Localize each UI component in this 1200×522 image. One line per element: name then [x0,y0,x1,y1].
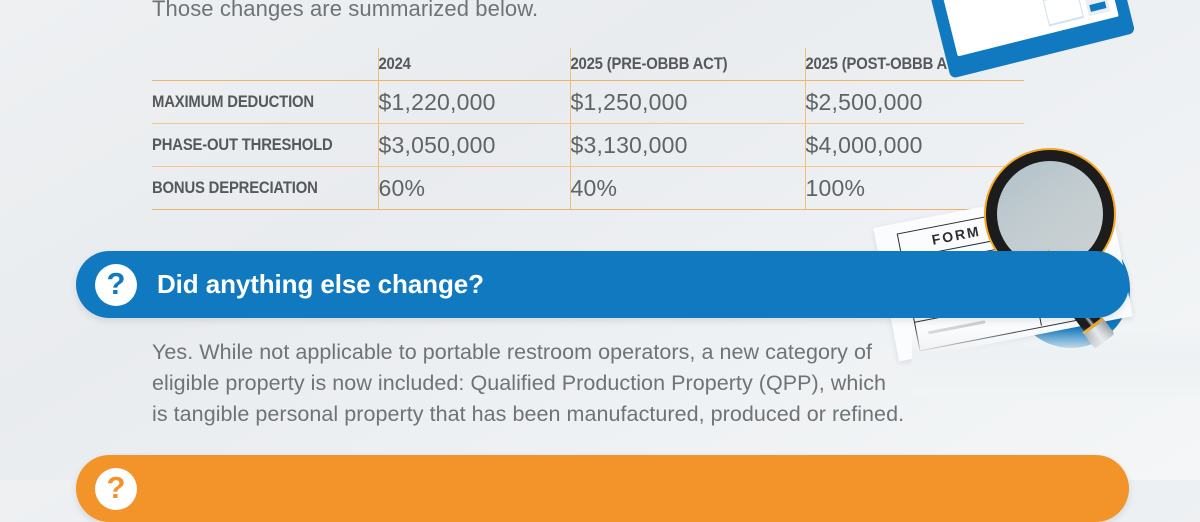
cell-phase-out-threshold-2025-pre: $3,130,000 [570,124,805,167]
answer-paragraph: Yes. While not applicable to portable re… [152,337,1112,430]
table-row: PHASE-OUT THRESHOLD $3,050,000 $3,130,00… [152,124,1024,167]
tablet-illustration [915,0,1136,79]
question-mark-glyph: ? [107,268,126,299]
answer-line-1: Yes. While not applicable to portable re… [152,337,1112,368]
cell-phase-out-threshold-2024: $3,050,000 [378,124,570,167]
cell-bonus-depreciation-2024: 60% [378,167,570,210]
section-179-comparison-table: 2024 2025 (PRE-OBBB ACT) 2025 (POST-OBBB… [152,48,1024,210]
table-header-2025-pre: 2025 (PRE-OBBB ACT) [570,48,782,81]
question-mark-icon: ? [95,468,137,510]
question-mark-icon: ? [95,264,137,306]
row-label-phase-out-threshold: PHASE-OUT THRESHOLD [152,124,355,167]
answer-line-3: is tangible personal property that has b… [152,399,1112,430]
table-header-row: 2024 2025 (PRE-OBBB ACT) 2025 (POST-OBBB… [152,48,1024,81]
comparison-table-wrapper: 2024 2025 (PRE-OBBB ACT) 2025 (POST-OBBB… [152,48,1024,210]
cell-maximum-deduction-2025-post: $2,500,000 [805,81,1024,124]
intro-text: Those changes are summarized below. [152,0,538,22]
table-row: BONUS DEPRECIATION 60% 40% 100% [152,167,1024,210]
cell-maximum-deduction-2024: $1,220,000 [378,81,570,124]
cell-bonus-depreciation-2025-pre: 40% [570,167,805,210]
question-mark-glyph: ? [107,472,126,503]
answer-line-2: eligible property is now included: Quali… [152,368,1112,399]
table-header-2024: 2024 [378,48,551,81]
question-banner-blue[interactable]: ? Did anything else change? [76,251,1129,318]
row-label-maximum-deduction: MAXIMUM DEDUCTION [152,81,355,124]
cell-maximum-deduction-2025-pre: $1,250,000 [570,81,805,124]
infographic-canvas: Those changes are summarized below. 2024… [0,0,1200,480]
question-banner-orange[interactable]: ? [76,455,1129,522]
table-row: MAXIMUM DEDUCTION $1,220,000 $1,250,000 … [152,81,1024,124]
row-label-bonus-depreciation: BONUS DEPRECIATION [152,167,355,210]
table-header-corner [152,48,355,81]
question-banner-title: Did anything else change? [157,269,484,300]
